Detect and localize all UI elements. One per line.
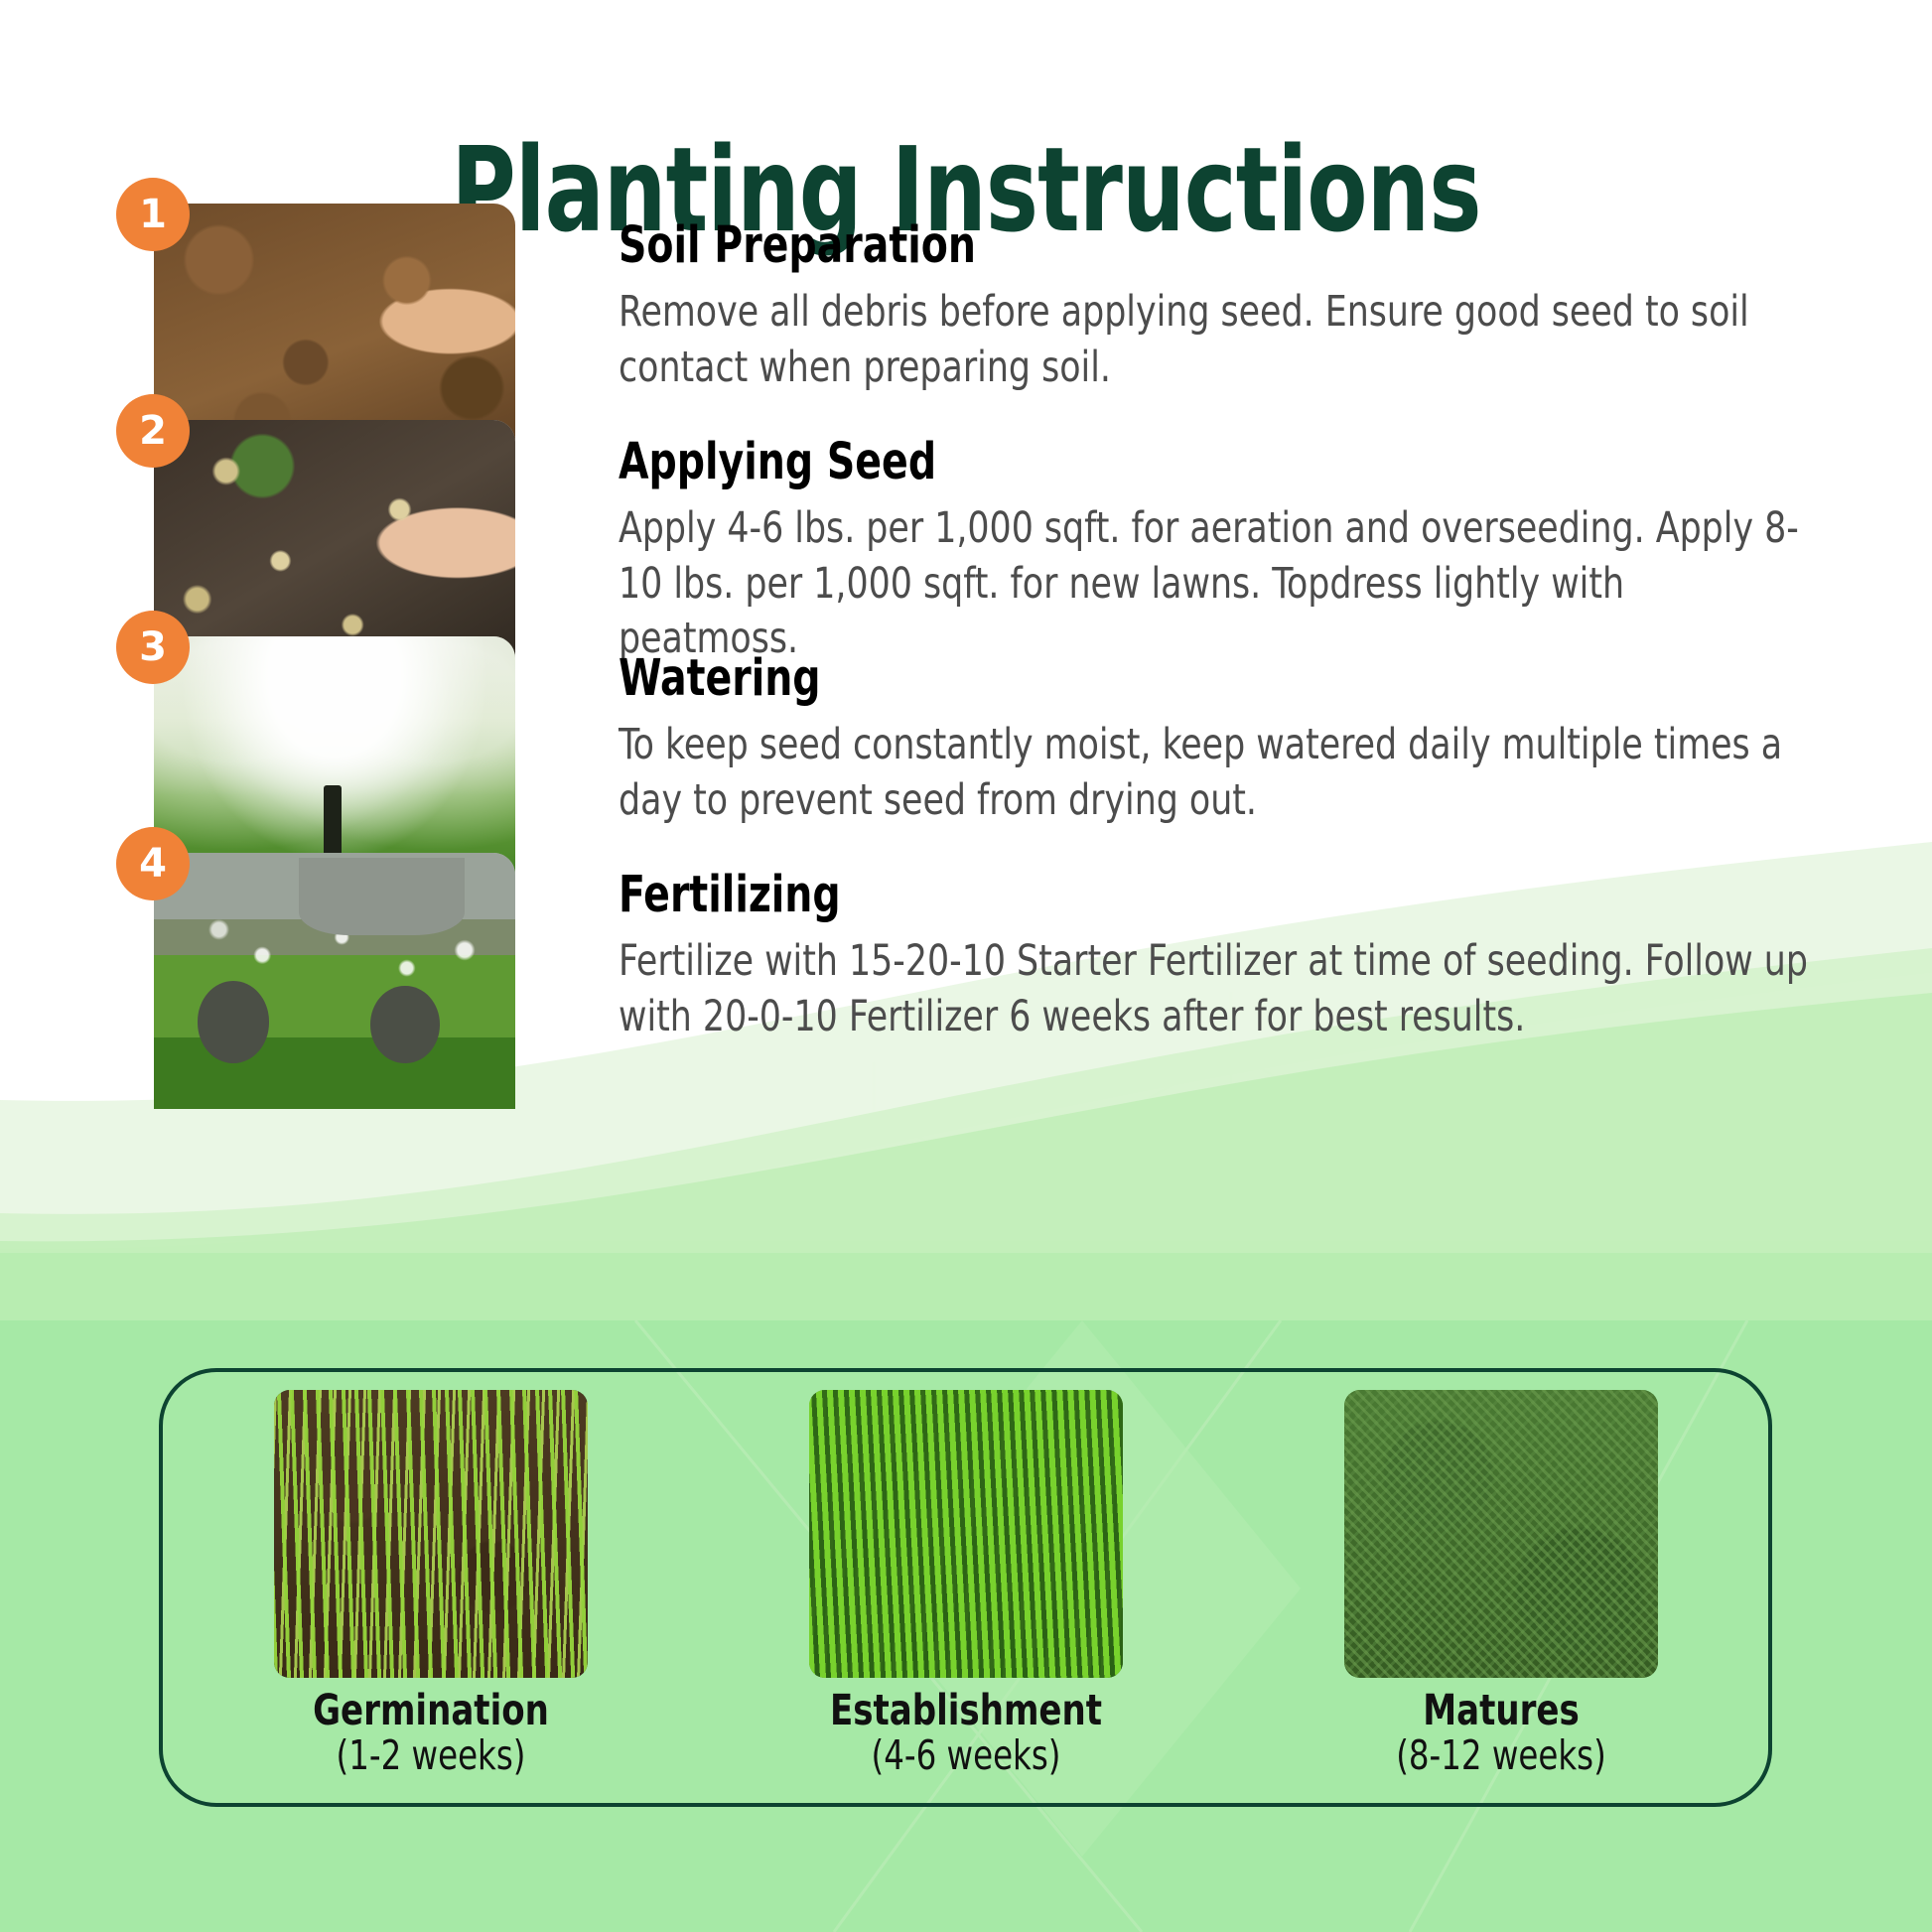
step-number: 1: [139, 192, 167, 237]
step-thumbnail-wrap: 4: [154, 853, 515, 1109]
steps-list: 1 Soil Preparation Remove all debris bef…: [0, 204, 1932, 1069]
step-number-badge: 2: [116, 394, 190, 468]
step-body: Remove all debris before applying seed. …: [619, 285, 1810, 396]
growth-stage-image: [809, 1390, 1123, 1678]
step-number-badge: 3: [116, 611, 190, 684]
growth-stage-item: Matures (8-12 weeks): [1337, 1390, 1665, 1779]
growth-stage-item: Germination (1-2 weeks): [267, 1390, 595, 1779]
growth-stage-label: Establishment: [821, 1688, 1109, 1733]
step-text-block: Fertilizing Fertilize with 15-20-10 Star…: [515, 853, 1800, 1044]
growth-stage-label: Germination: [286, 1688, 574, 1733]
step-body: Fertilize with 15-20-10 Starter Fertiliz…: [619, 934, 1810, 1045]
step-number: 2: [139, 408, 167, 454]
step-number-badge: 4: [116, 827, 190, 900]
growth-stages-card: Germination (1-2 weeks) Establishment (4…: [159, 1368, 1772, 1807]
step-item: 3 Watering To keep seed constantly moist…: [0, 636, 1932, 853]
step-heading: Soil Preparation: [619, 217, 1634, 276]
step-text-block: Soil Preparation Remove all debris befor…: [515, 204, 1800, 395]
step-text-block: Applying Seed Apply 4-6 lbs. per 1,000 s…: [515, 420, 1800, 667]
step-heading: Fertilizing: [619, 867, 1634, 925]
step-heading: Watering: [619, 650, 1634, 709]
growth-stage-duration: (4-6 weeks): [821, 1733, 1109, 1778]
step-number-badge: 1: [116, 178, 190, 251]
step-item: 1 Soil Preparation Remove all debris bef…: [0, 204, 1932, 420]
step-number: 3: [139, 624, 167, 670]
step-text-block: Watering To keep seed constantly moist, …: [515, 636, 1800, 828]
growth-stage-label: Matures: [1356, 1688, 1644, 1733]
growth-stage-duration: (1-2 weeks): [286, 1733, 574, 1778]
growth-stages-row: Germination (1-2 weeks) Establishment (4…: [163, 1372, 1768, 1803]
growth-stage-duration: (8-12 weeks): [1356, 1733, 1644, 1778]
step-body: To keep seed constantly moist, keep wate…: [619, 718, 1810, 829]
step-heading: Applying Seed: [619, 434, 1634, 492]
growth-stage-image: [1344, 1390, 1658, 1678]
step-item: 4 Fertilizing Fertilize with 15-20-10 St…: [0, 853, 1932, 1069]
step-item: 2 Applying Seed Apply 4-6 lbs. per 1,000…: [0, 420, 1932, 636]
step-number: 4: [139, 841, 167, 887]
growth-stage-image: [274, 1390, 588, 1678]
step-image: [154, 853, 515, 1109]
growth-stage-item: Establishment (4-6 weeks): [802, 1390, 1130, 1779]
